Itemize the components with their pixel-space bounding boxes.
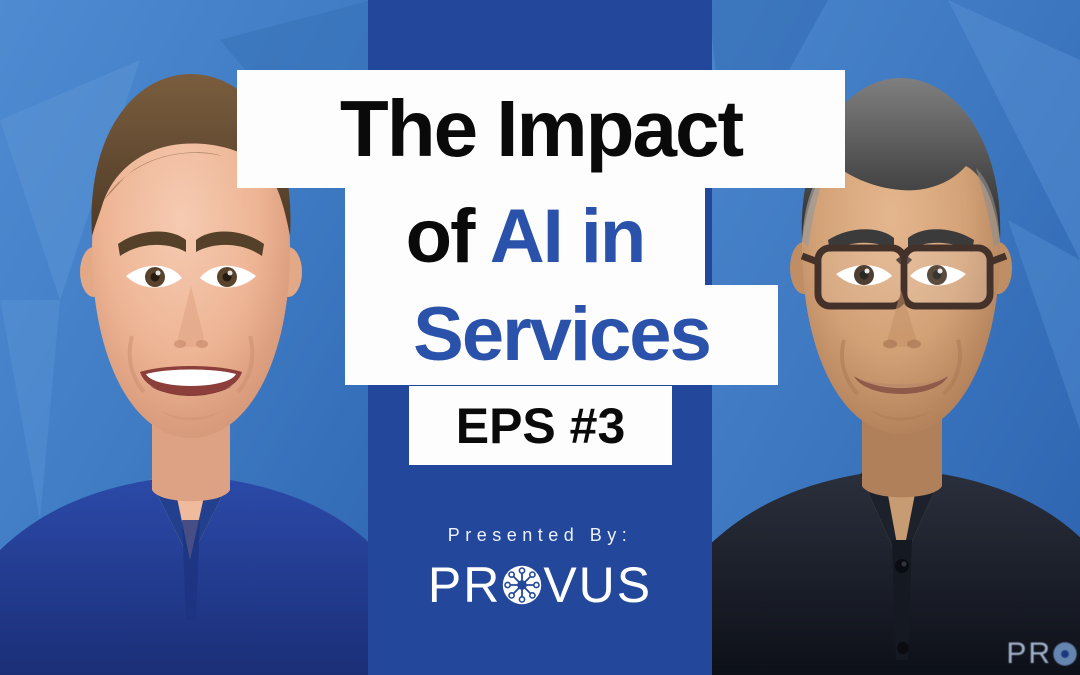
brand-name-part2: VUS xyxy=(543,560,652,610)
episode-badge: EPS #3 xyxy=(409,386,672,465)
title-line-1: The Impact xyxy=(340,89,742,169)
brand-name-part1: PR xyxy=(428,560,501,610)
title-line-2: of AI in xyxy=(406,199,645,275)
video-thumbnail: PR The Impact of AI in Services EPS #3 P… xyxy=(0,0,1080,675)
node-burst-icon xyxy=(502,565,542,605)
presented-by-label: Presented By: xyxy=(368,525,712,546)
shirt-brand-logo: PR xyxy=(1006,637,1078,671)
shirt-brand-text: PR xyxy=(1006,637,1052,671)
episode-badge-label: EPS #3 xyxy=(456,397,626,455)
title-line-2-plain: of xyxy=(406,194,490,279)
title-line-3-card: Services xyxy=(345,285,778,385)
title-line-2-card: of AI in xyxy=(345,188,705,285)
brand-logo: PR xyxy=(368,560,712,610)
node-burst-icon xyxy=(1052,641,1078,667)
title-line-3: Services xyxy=(413,297,710,373)
title-line-1-card: The Impact xyxy=(237,70,845,188)
title-line-2-accent: AI in xyxy=(490,194,645,279)
